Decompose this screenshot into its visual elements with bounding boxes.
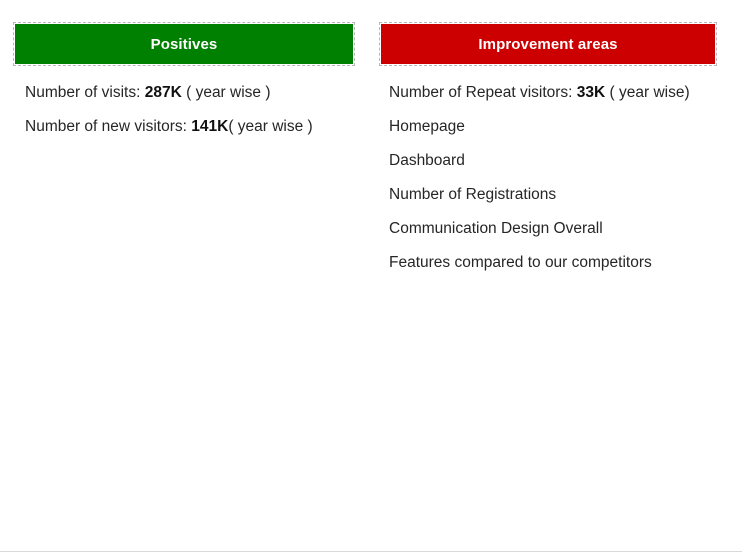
list-item-text: Features compared to our competitors (389, 254, 652, 271)
list-item-text: Number of Repeat visitors: (389, 84, 577, 101)
list-item: Features compared to our competitors (389, 255, 734, 274)
list-item-text: Dashboard (389, 152, 465, 169)
list-item-text: Number of visits: (25, 84, 145, 101)
list-item-text: Number of Registrations (389, 186, 556, 203)
list-item: Communication Design Overall (389, 221, 734, 240)
panel-header-improvement-areas-label: Improvement areas (478, 37, 617, 52)
list-item-suffix: ( year wise ) (228, 118, 312, 135)
panel-body-improvement-areas: Number of Repeat visitors: 33K ( year wi… (389, 85, 734, 274)
list-item-text: Communication Design Overall (389, 220, 603, 237)
list-item-text: Number of new visitors: (25, 118, 191, 135)
list-item: Dashboard (389, 153, 734, 172)
list-item-suffix: ( year wise) (605, 84, 689, 101)
list-item: Number of Repeat visitors: 33K ( year wi… (389, 85, 734, 104)
list-item-emphasis: 287K (145, 84, 182, 101)
list-item: Number of Registrations (389, 187, 734, 206)
footer-divider (0, 551, 742, 552)
panel-header-positives-label: Positives (151, 37, 218, 52)
list-item-emphasis: 141K (191, 118, 228, 135)
list-item: Number of new visitors: 141K( year wise … (25, 119, 370, 138)
panel-header-positives[interactable]: Positives (15, 24, 353, 64)
panel-body-positives: Number of visits: 287K ( year wise ) Num… (25, 85, 370, 138)
list-item-emphasis: 33K (577, 84, 605, 101)
slide-canvas: Positives Improvement areas Number of vi… (0, 0, 742, 560)
list-item: Number of visits: 287K ( year wise ) (25, 85, 370, 104)
list-item-suffix: ( year wise ) (182, 84, 271, 101)
list-item: Homepage (389, 119, 734, 138)
list-item-text: Homepage (389, 118, 465, 135)
panel-header-improvement-areas[interactable]: Improvement areas (381, 24, 715, 64)
